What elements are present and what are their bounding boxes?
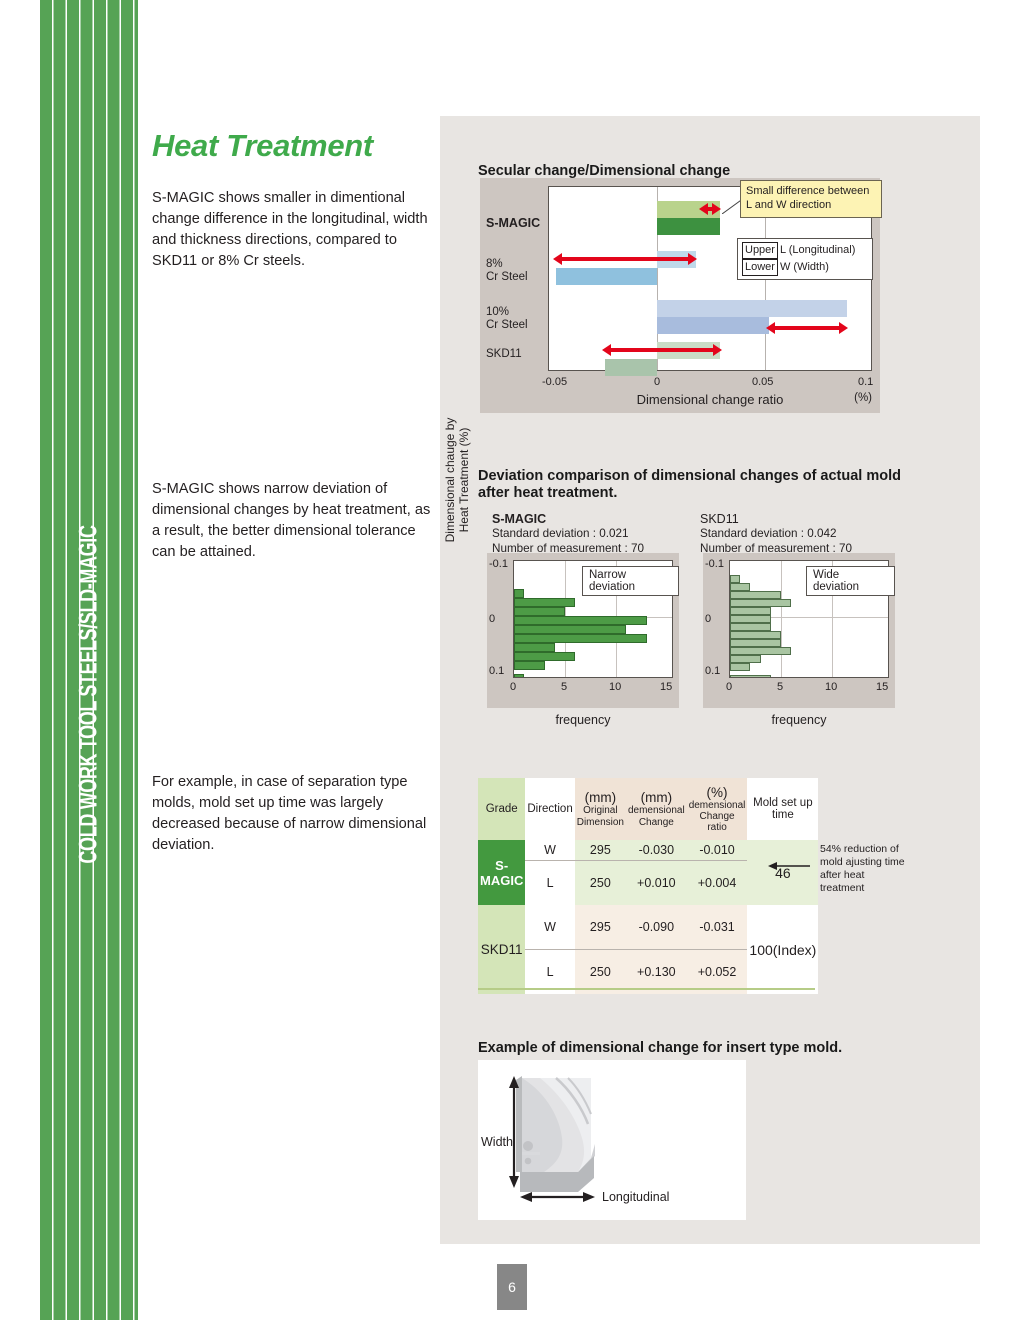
table-header-grade: Grade [478, 778, 525, 840]
arrow-head-right-icon [839, 322, 848, 334]
chart1-range-arrow-8cr [553, 253, 697, 265]
table-cell-ratio-3: -0.031 [687, 905, 748, 950]
chart1-row-label-smagic: S-MAGIC [486, 216, 540, 230]
hist-skd11-xtick-3: 15 [876, 681, 888, 693]
hist-skd11-ytick-top: -0.1 [705, 558, 724, 570]
page-number: 6 [497, 1264, 527, 1310]
hist-skd11-bar-6 [730, 623, 771, 631]
table-header-ratio-name: demensional Change ratio [689, 800, 746, 834]
hist-smagic-bar-2 [514, 607, 565, 616]
hist-skd11-bar-8 [730, 639, 781, 647]
hist-smagic-bar-9 [514, 674, 524, 678]
hist-smagic-ytick-bot: 0.1 [489, 665, 504, 677]
hist-smagic-bar-4 [514, 625, 626, 634]
hist-smagic-ytick-mid: 0 [489, 613, 495, 625]
stats-smagic: S-MAGIC Standard deviation : 0.021 Numbe… [492, 511, 644, 557]
chart1-row-label-8cr-line2: Cr Steel [486, 271, 528, 284]
table-cell-grade-skd11: SKD11 [478, 905, 525, 994]
table-cell-ratio-1: -0.010 [687, 840, 748, 861]
hist-smagic-bar-8 [514, 661, 545, 670]
legend-text-upper: L (Longitudinal) [780, 244, 855, 256]
section-heading-deviation: Deviation comparison of dimensional chan… [478, 468, 903, 503]
hist-skd11-bar-12 [730, 675, 771, 678]
table-header-original-unit: (mm) [577, 790, 624, 805]
table-header-change-unit: (mm) [628, 790, 685, 805]
chart1-range-arrow-smagic [699, 203, 721, 215]
arrow-shaft [773, 326, 841, 330]
hist-skd11-ytick-bot: 0.1 [705, 665, 720, 677]
chart1-legend: UpperL (Longitudinal) LowerW (Width) [737, 238, 873, 280]
hist-skd11-bar-0 [730, 575, 740, 583]
hist-smagic-xtick-3: 15 [660, 681, 672, 693]
hist-smagic-bar-1 [514, 598, 575, 607]
legend-row-upper: UpperL (Longitudinal) [742, 242, 868, 259]
table-cell-ratio-2: +0.004 [687, 861, 748, 906]
stats-skd11-name: SKD11 [700, 511, 852, 527]
hist-smagic-xtick-2: 10 [609, 681, 621, 693]
table-row: S-MAGIC W 295 -0.030 -0.010 46 [478, 840, 818, 861]
table-row: SKD11 W 295 -0.090 -0.031 100(Index) [478, 905, 818, 950]
arrow-head-right-icon [713, 344, 722, 356]
chart1-row-label-skd11: SKD11 [486, 348, 522, 361]
table-reduction-note: 54% reduction of mold ajusting time afte… [820, 843, 908, 896]
chart1-row-label-10cr-line1: 10% [486, 306, 509, 319]
hist-smagic-x-axis-title: frequency [487, 713, 679, 727]
legend-key-upper: Upper [742, 242, 778, 259]
hist-smagic-bar-5 [514, 634, 647, 643]
histogram-y-axis-title-text: Dimensional chauge by Heat Treatment (%) [443, 405, 472, 555]
section-heading-insert: Example of dimensional change for insert… [478, 1040, 842, 1057]
legend-key-lower: Lower [742, 259, 778, 276]
hist-skd11-bar-3 [730, 599, 791, 607]
chart1-bar-10cr-L [657, 300, 847, 317]
hist-smagic-ytick-top: -0.1 [489, 558, 508, 570]
table-header-mold: Mold set up time [747, 778, 818, 840]
mold-width-label: Width [481, 1135, 513, 1149]
left-green-band [40, 0, 138, 1320]
chart1-bar-8cr-W [556, 268, 657, 285]
table-cell-direction-w2: W [525, 905, 574, 950]
table-header-original-name: Original Dimension [577, 805, 624, 827]
intro-paragraph-1: S-MAGIC shows smaller in dimentional cha… [152, 188, 432, 273]
hist-smagic-bar-6 [514, 643, 555, 652]
chart1-row-label-8cr-line1: 8% [486, 258, 503, 271]
histogram-smagic: -0.1 0 0.1 Narrow deviation 0 5 10 15 [487, 553, 679, 708]
chart1-bar-skd11-W [605, 359, 657, 376]
table-cell-grade-smagic: S-MAGIC [478, 840, 525, 905]
hist-smagic-bar-0 [514, 589, 524, 598]
stats-skd11: SKD11 Standard deviation : 0.042 Number … [700, 511, 852, 557]
table-header-original: (mm) Original Dimension [575, 778, 626, 840]
chart1-unit-label: (%) [854, 392, 872, 404]
table-cell-direction-w: W [525, 840, 574, 861]
chart1-range-arrow-skd11 [602, 344, 722, 356]
table-header-change: (mm) demensional Change [626, 778, 687, 840]
hist-smagic-xtick-0: 0 [510, 681, 516, 693]
chart1-xtick-3: 0.1 [858, 376, 873, 388]
arrow-head-right-icon [688, 253, 697, 265]
table-header-row: Grade Direction (mm) Original Dimension … [478, 778, 818, 840]
chart1-xtick-2: 0.05 [752, 376, 773, 388]
table-header-change-name: demensional Change [628, 805, 685, 827]
stats-smagic-name: S-MAGIC [492, 511, 644, 527]
chart1-xtick-0: -0.05 [542, 376, 567, 388]
intro-paragraph-2: S-MAGIC shows narrow deviation of dimens… [152, 479, 432, 564]
mold-longitudinal-label: Longitudinal [602, 1190, 669, 1204]
table-cell-change-3: -0.090 [626, 905, 687, 950]
histogram-y-axis-title: Dimensional chauge by Heat Treatment (%) [443, 405, 461, 555]
hist-skd11-xtick-1: 5 [777, 681, 783, 693]
chart1-row-label-10cr-line2: Cr Steel [486, 319, 528, 332]
table-bottom-rule [478, 988, 815, 990]
histogram-skd11: -0.1 0 0.1 Wide deviation 0 5 10 15 [703, 553, 895, 708]
hist-skd11-xtick-0: 0 [726, 681, 732, 693]
dimensional-change-table: Grade Direction (mm) Original Dimension … [478, 778, 818, 994]
hist-skd11-badge: Wide deviation [806, 566, 895, 596]
hist-skd11-bar-11 [730, 663, 750, 671]
table-header-ratio-unit: (%) [689, 785, 746, 800]
table-cell-mold-skd11: 100(Index) [747, 905, 818, 994]
table-cell-original-2: 250 [575, 861, 626, 906]
table-cell-change-1: -0.030 [626, 840, 687, 861]
chart1-axis-title: Dimensional change ratio [548, 392, 872, 407]
legend-text-lower: W (Width) [780, 261, 829, 273]
stats-skd11-sd: Standard deviation : 0.042 [700, 527, 852, 542]
hist-skd11-bar-9 [730, 647, 791, 655]
table-header-ratio: (%) demensional Change ratio [687, 778, 748, 840]
hist-skd11-bar-1 [730, 583, 750, 591]
chart1-bar-10cr-W [657, 317, 769, 334]
hist-skd11-bar-4 [730, 607, 771, 615]
mold-time-arrow-icon [768, 861, 810, 871]
table-cell-mold-smagic: 46 [747, 840, 818, 905]
hist-smagic-xtick-1: 5 [561, 681, 567, 693]
hist-skd11-ytick-mid: 0 [705, 613, 711, 625]
arrow-shaft [609, 348, 715, 352]
chart1-callout-note: Small difference between L and W directi… [740, 180, 882, 218]
table-cell-change-2: +0.010 [626, 861, 687, 906]
insert-mold-figure: Width Longitudinal [478, 1060, 746, 1220]
chart1-xtick-1: 0 [654, 376, 660, 388]
hist-grid-5 [781, 561, 782, 677]
hist-smagic-badge: Narrow deviation [582, 566, 679, 596]
chart1-range-arrow-10cr [766, 322, 848, 334]
chart1-bar-smagic-W [657, 218, 720, 235]
intro-paragraph-3: For example, in case of separation type … [152, 772, 432, 857]
page-title: Heat Treatment [152, 128, 373, 164]
hist-skd11-xtick-2: 10 [825, 681, 837, 693]
hist-skd11-bar-5 [730, 615, 771, 623]
table-cell-original-3: 295 [575, 905, 626, 950]
hist-skd11-bar-2 [730, 591, 781, 599]
table-cell-direction-l: L [525, 861, 574, 906]
hist-skd11-bar-7 [730, 631, 781, 639]
hist-skd11-x-axis-title: frequency [703, 713, 895, 727]
hist-skd11-bar-10 [730, 655, 761, 663]
hist-smagic-bar-3 [514, 616, 647, 625]
arrow-head-right-icon [712, 203, 721, 215]
stats-smagic-sd: Standard deviation : 0.021 [492, 527, 644, 542]
table-cell-original-1: 295 [575, 840, 626, 861]
arrow-shaft [560, 257, 690, 261]
legend-row-lower: LowerW (Width) [742, 259, 868, 276]
table-header-direction: Direction [525, 778, 574, 840]
hist-smagic-bar-7 [514, 652, 575, 661]
